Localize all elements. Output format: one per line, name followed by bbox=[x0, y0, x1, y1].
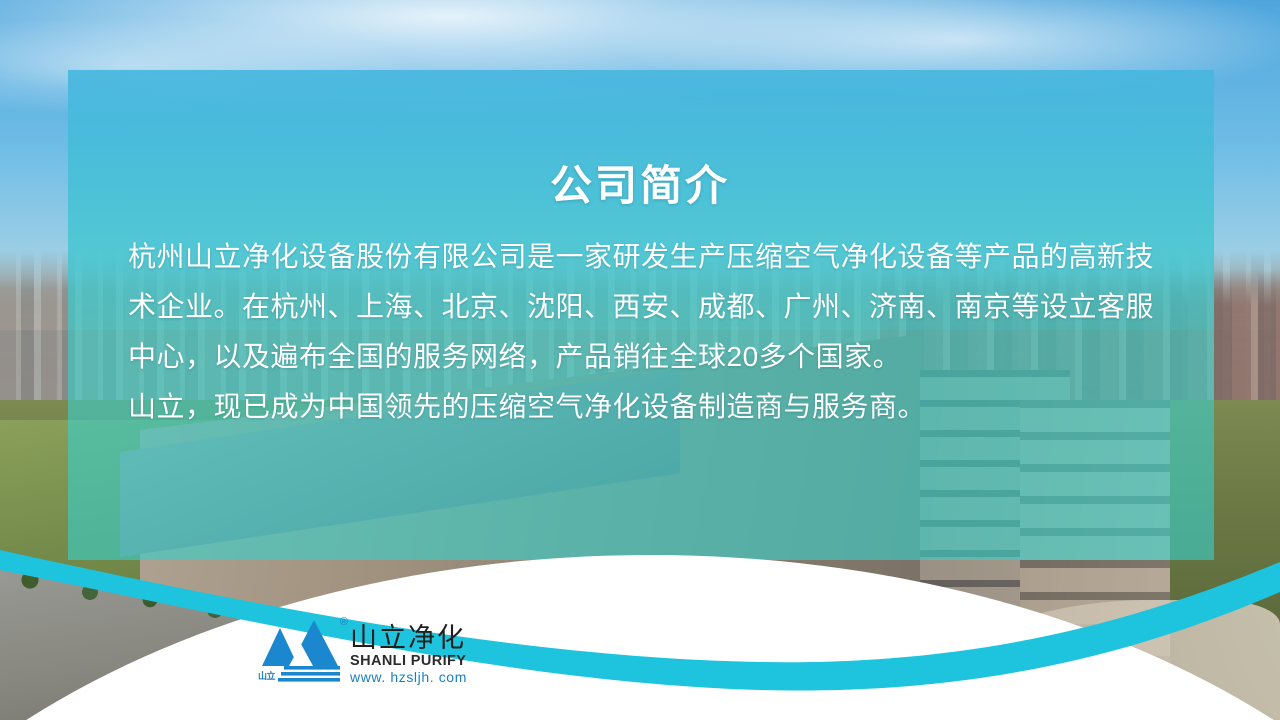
logo-website: www. hzsljh. com bbox=[350, 670, 467, 684]
body-line-3: 中心，以及遍布全国的服务网络，产品销往全球20多个国家。 bbox=[128, 332, 1118, 382]
logo-company-en: SHANLI PURIFY bbox=[350, 654, 467, 669]
body-line-2: 术企业。在杭州、上海、北京、沈阳、西安、成都、广州、济南、南京等设立客服 bbox=[128, 282, 1118, 332]
body-line-4: 山立，现已成为中国领先的压缩空气净化设备制造商与服务商。 bbox=[128, 382, 1118, 432]
logo-mark-label: 山立 bbox=[258, 669, 275, 682]
page-title: 公司简介 bbox=[0, 152, 1280, 213]
logo-company-cn: 山立净化 bbox=[350, 625, 467, 652]
logo-wordmark: 山立净化 SHANLI PURIFY www. hzsljh. com bbox=[350, 625, 467, 687]
registered-trademark-icon: ® bbox=[340, 616, 348, 628]
body-line-1: 杭州山立净化设备股份有限公司是一家研发生产压缩空气净化设备等产品的高新技 bbox=[128, 232, 1118, 282]
body-copy: 杭州山立净化设备股份有限公司是一家研发生产压缩空气净化设备等产品的高新技 术企业… bbox=[128, 232, 1118, 432]
mountain-logo-icon: ® 山立 bbox=[258, 614, 344, 686]
brand-logo: ® 山立 山立净化 SHANLI PURIFY www. hzsljh. com bbox=[258, 608, 468, 686]
slide-canvas: 公司简介 杭州山立净化设备股份有限公司是一家研发生产压缩空气净化设备等产品的高新… bbox=[0, 0, 1280, 720]
